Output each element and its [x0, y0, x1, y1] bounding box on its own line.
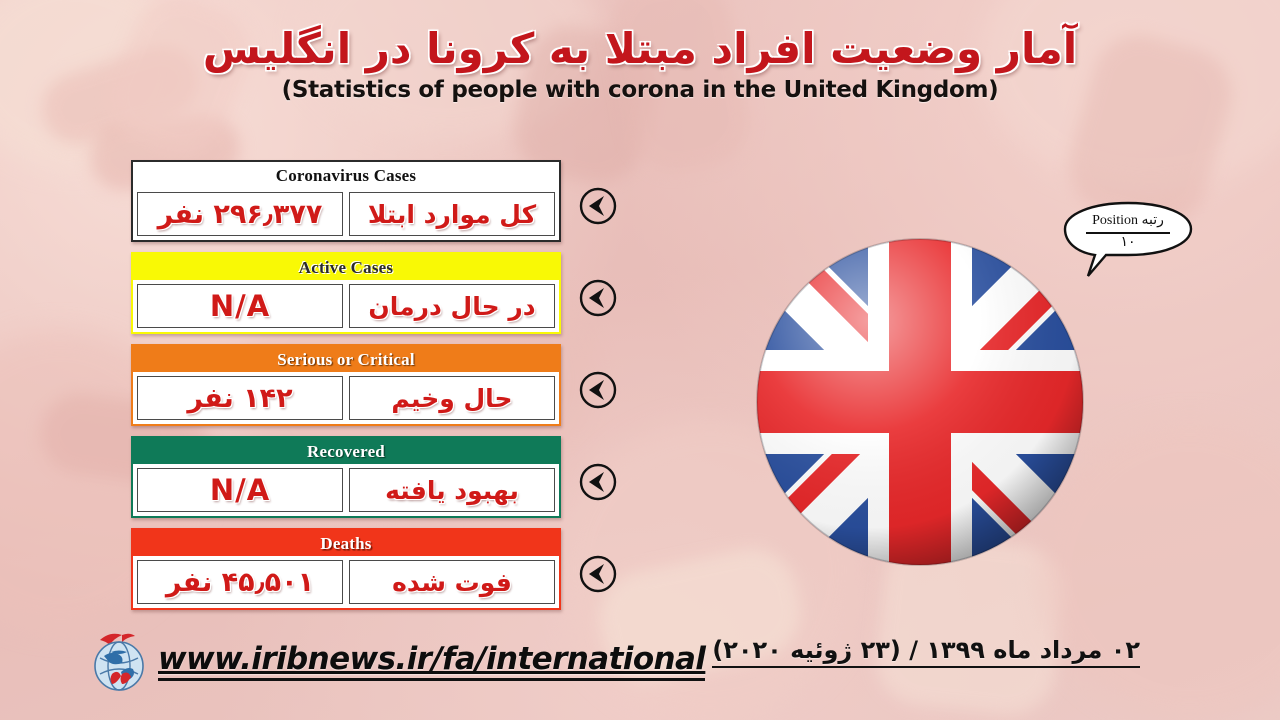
stat-body-active-cases: N/A در حال درمان	[131, 280, 561, 334]
stat-body-recovered: N/A بهبود یافته	[131, 464, 561, 518]
iribnews-globe-logo	[88, 628, 150, 694]
row-pointer-slot	[578, 252, 618, 344]
website-url-link[interactable]: www.iribnews.ir/fa/international	[158, 641, 705, 681]
stat-label-deaths: فوت شده	[392, 568, 512, 597]
stat-label-serious-or-critical: حال وخیم	[391, 384, 512, 413]
row-pointer-slot	[578, 344, 618, 436]
stat-header-serious-or-critical: Serious or Critical	[131, 344, 561, 372]
chevron-left-circle-icon[interactable]	[578, 370, 618, 410]
row-pointer-slot	[578, 436, 618, 528]
position-badge-label: رتبه Position	[1058, 212, 1198, 229]
chevron-left-circle-icon[interactable]	[578, 462, 618, 502]
position-badge-value: ۱۰	[1058, 234, 1198, 250]
stat-card-coronavirus-cases[interactable]: Coronavirus Cases ۲۹۶٫۳۷۷ نفر کل موارد ا…	[131, 160, 561, 242]
row-pointer-column	[578, 160, 618, 620]
page-title-block: آمار وضعیت افراد مبتلا به کرونا در انگلی…	[0, 24, 1280, 103]
publication-date: ۰۲ مرداد ماه ۱۳۹۹ / (۲۳ ژوئیه ۲۰۲۰)	[712, 636, 1140, 668]
stat-header-deaths: Deaths	[131, 528, 561, 556]
stat-label-coronavirus-cases: کل موارد ابتلا	[368, 200, 536, 229]
stat-value-cell-deaths: ۴۵٫۵۰۱ نفر	[137, 560, 343, 604]
stat-value-deaths: ۴۵٫۵۰۱ نفر	[166, 567, 314, 598]
stat-body-serious-or-critical: ۱۴۲ نفر حال وخیم	[131, 372, 561, 426]
stat-label-cell-active-cases: در حال درمان	[349, 284, 555, 328]
chevron-left-circle-icon[interactable]	[578, 186, 618, 226]
stat-card-deaths[interactable]: Deaths ۴۵٫۵۰۱ نفر فوت شده	[131, 528, 561, 610]
footer-branding: www.iribnews.ir/fa/international	[88, 628, 705, 694]
stat-label-cell-serious-or-critical: حال وخیم	[349, 376, 555, 420]
stat-header-active-cases: Active Cases	[131, 252, 561, 280]
row-pointer-slot	[578, 160, 618, 252]
stat-body-deaths: ۴۵٫۵۰۱ نفر فوت شده	[131, 556, 561, 610]
stat-value-cell-coronavirus-cases: ۲۹۶٫۳۷۷ نفر	[137, 192, 343, 236]
stat-value-recovered: N/A	[210, 473, 270, 507]
stat-body-coronavirus-cases: ۲۹۶٫۳۷۷ نفر کل موارد ابتلا	[131, 188, 561, 242]
stat-label-recovered: بهبود یافته	[385, 476, 519, 505]
stat-value-cell-active-cases: N/A	[137, 284, 343, 328]
stat-card-active-cases[interactable]: Active Cases N/A در حال درمان	[131, 252, 561, 334]
stat-value-cell-serious-or-critical: ۱۴۲ نفر	[137, 376, 343, 420]
stat-value-active-cases: N/A	[210, 289, 270, 323]
stat-label-cell-deaths: فوت شده	[349, 560, 555, 604]
chevron-left-circle-icon[interactable]	[578, 278, 618, 318]
stat-value-coronavirus-cases: ۲۹۶٫۳۷۷ نفر	[158, 199, 323, 230]
stat-value-cell-recovered: N/A	[137, 468, 343, 512]
stat-label-cell-recovered: بهبود یافته	[349, 468, 555, 512]
statistics-table: Coronavirus Cases ۲۹۶٫۳۷۷ نفر کل موارد ا…	[131, 160, 561, 620]
page-subtitle-english: (Statistics of people with corona in the…	[0, 77, 1280, 103]
page-title-farsi: آمار وضعیت افراد مبتلا به کرونا در انگلی…	[0, 24, 1280, 74]
stat-value-serious-or-critical: ۱۴۲ نفر	[187, 383, 292, 414]
stat-header-coronavirus-cases: Coronavirus Cases	[131, 160, 561, 188]
chevron-left-circle-icon[interactable]	[578, 554, 618, 594]
row-pointer-slot	[578, 528, 618, 620]
stat-card-serious-or-critical[interactable]: Serious or Critical ۱۴۲ نفر حال وخیم	[131, 344, 561, 426]
stat-label-active-cases: در حال درمان	[368, 292, 535, 321]
position-badge: رتبه Position ۱۰	[1058, 200, 1198, 282]
stat-label-cell-coronavirus-cases: کل موارد ابتلا	[349, 192, 555, 236]
stat-card-recovered[interactable]: Recovered N/A بهبود یافته	[131, 436, 561, 518]
stat-header-recovered: Recovered	[131, 436, 561, 464]
